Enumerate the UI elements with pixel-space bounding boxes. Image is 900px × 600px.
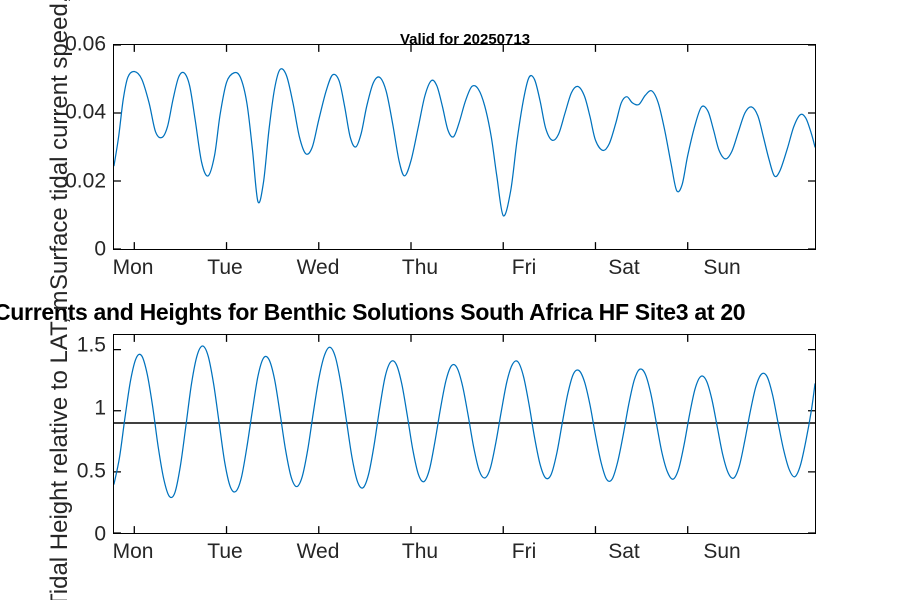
xtick-top-sat: Sat: [608, 257, 640, 278]
ytick-bot-1.5: 1.5: [12, 335, 106, 356]
axes-tidal-height: [113, 334, 816, 534]
xtick-bot-sat: Sat: [608, 541, 640, 562]
xtick-bot-tue: Tue: [207, 541, 242, 562]
x-tick-marks-bottom: [114, 335, 815, 533]
ytick-top-0: 0: [12, 239, 106, 260]
xtick-top-sun: Sun: [703, 257, 740, 278]
xtick-bot-wed: Wed: [297, 541, 340, 562]
x-tick-marks-top: [114, 45, 815, 249]
ytick-top-0.04: 0.04: [12, 102, 106, 123]
ytick-bot-0.5: 0.5: [12, 461, 106, 482]
xtick-top-thu: Thu: [402, 257, 438, 278]
xtick-bot-fri: Fri: [512, 541, 537, 562]
figure-main-title: Currents and Heights for Benthic Solutio…: [0, 299, 745, 326]
xtick-top-wed: Wed: [297, 257, 340, 278]
ytick-top-0.02: 0.02: [12, 171, 106, 192]
xtick-top-fri: Fri: [512, 257, 537, 278]
plot-area-tidal-height: [114, 335, 815, 533]
tidal-figure: Surface tidal current speed, kn Valid fo…: [0, 0, 900, 600]
xtick-top-tue: Tue: [207, 257, 242, 278]
axes-current-speed: [113, 44, 816, 250]
plot-area-current-speed: [114, 45, 815, 249]
ytick-bot-0: 0: [12, 524, 106, 545]
xtick-bot-sun: Sun: [703, 541, 740, 562]
xtick-bot-mon: Mon: [113, 541, 154, 562]
ytick-bot-1: 1: [12, 398, 106, 419]
xtick-bot-thu: Thu: [402, 541, 438, 562]
xtick-top-mon: Mon: [113, 257, 154, 278]
ytick-top-0.06: 0.06: [12, 34, 106, 55]
data-line-current-speed: [114, 69, 815, 216]
data-line-tidal-height: [114, 346, 815, 498]
